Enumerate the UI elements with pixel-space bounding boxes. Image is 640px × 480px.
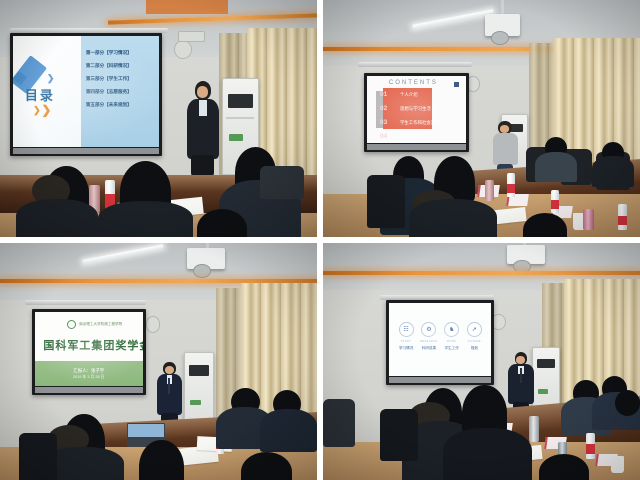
audience-body <box>16 199 98 237</box>
ac-vent <box>189 365 210 376</box>
icon-row: ☷ STUDY 学习情况 ⚙ RESEARCH 科研成果 ♞ <box>397 322 485 351</box>
projection-screen-frame: CONTENTS 01 个人介绍 02 思想与学习生活 <box>364 73 469 151</box>
contents-row: 04 未来规划 <box>380 133 456 140</box>
contents-number: 03 <box>380 119 392 126</box>
toc-item: 第四部分【志愿服务】 <box>86 89 154 95</box>
office-chair <box>367 175 405 227</box>
bottle-label <box>586 444 595 454</box>
bottle-label <box>551 200 559 209</box>
contents-label: 学生工作和社会实践 <box>400 120 440 126</box>
slide-left-pane: ❯ ❯ ❯ 目录 <box>13 36 82 147</box>
ceiling-cove-panel <box>146 0 228 14</box>
audience-body <box>98 201 193 237</box>
icon-cell: ⚙ RESEARCH 科研成果 <box>419 322 438 351</box>
icon-cell: ☷ STUDY 学习情况 <box>397 322 416 351</box>
contents-number: 04 <box>380 133 392 140</box>
slide-logo: 南京理工大学机械工程学院 <box>67 320 122 329</box>
screen-roller <box>25 300 145 305</box>
wall-bracket <box>178 31 205 42</box>
slide-contents: CONTENTS 01 个人介绍 02 思想与学习生活 <box>367 76 466 142</box>
chevron-orange-large-icon: ❯ <box>41 103 51 117</box>
presenter-tie <box>520 368 522 384</box>
slide-main-title: 国科军工集团奖学金答辩 <box>43 337 134 353</box>
logo-mark-icon <box>67 320 76 329</box>
conference-room: ❯ ❯ ❯ 目录 第一部分【学习情况】 第二部分【科研情况】 第三部分【学生工作… <box>0 0 317 237</box>
presenter-face <box>165 366 174 374</box>
cove-light <box>323 271 640 275</box>
contents-number: 02 <box>380 105 392 112</box>
book-icon: ☷ <box>399 322 414 337</box>
slide-title-page: 南京理工大学机械工程学院 国科军工集团奖学金答辩 汇报人：张子宇 2019 年 … <box>35 312 143 385</box>
ac-logo <box>190 400 201 405</box>
presenter-tie <box>168 378 170 394</box>
ac-vent <box>537 359 555 368</box>
toc-item-label: 第四部分【志愿服务】 <box>86 89 132 95</box>
ac-vent <box>228 94 253 107</box>
laptop-screen <box>128 424 164 437</box>
icon-cell-cn: 学习情况 <box>399 346 413 351</box>
audience-head <box>462 385 506 432</box>
projection-screen: ❯ ❯ ❯ 目录 第一部分【学习情况】 第二部分【科研情况】 第三部分【学生工作… <box>13 36 159 147</box>
icon-cell-en: RESEARCH <box>420 340 438 343</box>
collage-panel-top-right: CONTENTS 01 个人介绍 02 思想与学习生活 <box>323 0 640 237</box>
slide-date-line: 2019 年 3 月 28 日 <box>35 375 143 380</box>
contents-row: 01 个人介绍 <box>380 91 456 98</box>
projection-screen-frame: ☷ STUDY 学习情况 ⚙ RESEARCH 科研成果 ♞ <box>386 300 494 385</box>
audience-body <box>535 152 576 183</box>
slide-corner-mark-icon <box>454 82 459 87</box>
office-chair <box>323 399 355 446</box>
icon-cell-en: FUTURE <box>468 340 481 343</box>
screen-bottom-bar <box>389 377 491 383</box>
office-chair <box>260 166 304 199</box>
icon-cell: ♞ WORK 学生工作 <box>442 322 461 351</box>
conference-room: 南京理工大学机械工程学院 国科军工集团奖学金答辩 汇报人：张子宇 2019 年 … <box>0 243 317 480</box>
photo-collage: ❯ ❯ ❯ 目录 第一部分【学习情况】 第二部分【科研情况】 第三部分【学生工作… <box>0 0 640 480</box>
bottle-label <box>507 184 515 193</box>
water-bottle <box>507 173 515 197</box>
projection-screen-frame: 南京理工大学机械工程学院 国科军工集团奖学金答辩 汇报人：张子宇 2019 年 … <box>32 309 146 394</box>
projector-lens <box>491 31 509 45</box>
cove-light <box>0 279 317 283</box>
toc-list: 第一部分【学习情况】 第二部分【科研情况】 第三部分【学生工作】 第四部分【志愿… <box>86 50 154 115</box>
slide-presenter-line: 汇报人：张子宇 <box>35 368 143 374</box>
contents-label: 个人介绍 <box>400 92 418 98</box>
screen-bottom-bar <box>367 144 466 150</box>
contents-number: 01 <box>380 91 392 98</box>
projection-screen-frame: ❯ ❯ ❯ 目录 第一部分【学习情况】 第二部分【科研情况】 第三部分【学生工作… <box>10 33 162 156</box>
audience-head <box>615 390 640 416</box>
toc-item-label: 第五部分【未来规划】 <box>86 102 132 108</box>
thermos-cup <box>485 180 495 201</box>
audience-body <box>409 199 498 237</box>
conference-room: CONTENTS 01 个人介绍 02 思想与学习生活 <box>323 0 640 237</box>
chevron-blue-icon: ❯ <box>47 73 55 84</box>
slide-title: 目录 <box>25 85 55 104</box>
toc-item: 第一部分【学习情况】 <box>86 50 154 56</box>
screen-bottom-bar <box>35 387 143 393</box>
wall-fan-icon <box>174 40 192 59</box>
presenter-shirt <box>199 100 207 115</box>
slide-right-pane: 第一部分【学习情况】 第二部分【科研情况】 第三部分【学生工作】 第四部分【志愿… <box>81 36 158 147</box>
water-bottle <box>551 190 559 214</box>
screen-roller <box>358 62 472 67</box>
slide-org-name: 南京理工大学机械工程学院 <box>79 322 122 327</box>
flask-icon: ⚙ <box>421 322 436 337</box>
toc-item: 第二部分【科研情况】 <box>86 63 154 69</box>
collage-panel-top-left: ❯ ❯ ❯ 目录 第一部分【学习情况】 第二部分【科研情况】 第三部分【学生工作… <box>0 0 317 237</box>
projection-screen: ☷ STUDY 学习情况 ⚙ RESEARCH 科研成果 ♞ <box>389 303 491 376</box>
paper-cup <box>611 456 624 473</box>
slide-table-of-contents: ❯ ❯ ❯ 目录 第一部分【学习情况】 第二部分【科研情况】 第三部分【学生工作… <box>13 36 159 147</box>
icon-cell: ➚ FUTURE 规划 <box>465 322 484 351</box>
ac-logo <box>538 389 548 394</box>
contents-row: 02 思想与学习生活 <box>380 105 456 112</box>
rocket-icon: ➚ <box>467 322 482 337</box>
toc-item-label: 第三部分【学生工作】 <box>86 76 132 82</box>
presenter-face <box>197 86 208 97</box>
water-bottle <box>586 433 595 459</box>
conference-room: ☷ STUDY 学习情况 ⚙ RESEARCH 科研成果 ♞ <box>323 243 640 480</box>
slide-four-icons: ☷ STUDY 学习情况 ⚙ RESEARCH 科研成果 ♞ <box>389 303 491 376</box>
presenter-female <box>184 81 222 176</box>
collage-panel-bottom-right: ☷ STUDY 学习情况 ⚙ RESEARCH 科研成果 ♞ <box>323 243 640 480</box>
contents-list: 01 个人介绍 02 思想与学习生活 03 学生工作和社会实践 <box>380 91 456 143</box>
projection-screen: 南京理工大学机械工程学院 国科军工集团奖学金答辩 汇报人：张子宇 2019 年 … <box>35 312 143 385</box>
collage-panel-bottom-left: 南京理工大学机械工程学院 国科军工集团奖学金答辩 汇报人：张子宇 2019 年 … <box>0 243 317 480</box>
ac-strip <box>226 117 254 119</box>
projection-screen: CONTENTS 01 个人介绍 02 思想与学习生活 <box>367 76 466 142</box>
toc-item: 第五部分【未来规划】 <box>86 102 154 108</box>
wall-fan-icon <box>146 316 161 332</box>
icon-cell-cn: 规划 <box>471 346 478 351</box>
audience-body <box>260 409 317 452</box>
audience-body <box>592 156 633 187</box>
screen-bottom-bar <box>13 148 159 154</box>
toc-item-label: 第一部分【学习情况】 <box>86 50 132 56</box>
icon-cell-cn: 科研成果 <box>422 346 436 351</box>
presenter-face <box>500 125 509 133</box>
icon-cell-en: WORK <box>447 340 457 343</box>
pink-tumbler <box>583 209 594 230</box>
audience-body <box>443 428 532 480</box>
icon-cell-cn: 学生工作 <box>444 346 458 351</box>
bottle-label <box>618 216 628 226</box>
toc-item-label: 第二部分【科研情况】 <box>86 63 132 69</box>
toc-item: 第三部分【学生工作】 <box>86 76 154 82</box>
thermos-cup <box>529 416 539 442</box>
presenter-legs <box>191 155 213 178</box>
water-bottle <box>618 204 628 230</box>
presenter-body <box>493 133 518 165</box>
contents-label: 未来规划 <box>400 134 418 140</box>
ac-logo <box>229 134 243 141</box>
chevron-orange-icon: ❯ <box>33 105 41 116</box>
contents-label: 思想与学习生活 <box>400 106 431 112</box>
icon-cell-en: STUDY <box>401 340 412 343</box>
projector-mount-arm <box>501 0 504 14</box>
office-chair <box>380 409 418 461</box>
people-icon: ♞ <box>444 322 459 337</box>
slide-heading: CONTENTS <box>389 80 438 86</box>
contents-row: 03 学生工作和社会实践 <box>380 119 456 126</box>
office-chair <box>19 433 57 480</box>
